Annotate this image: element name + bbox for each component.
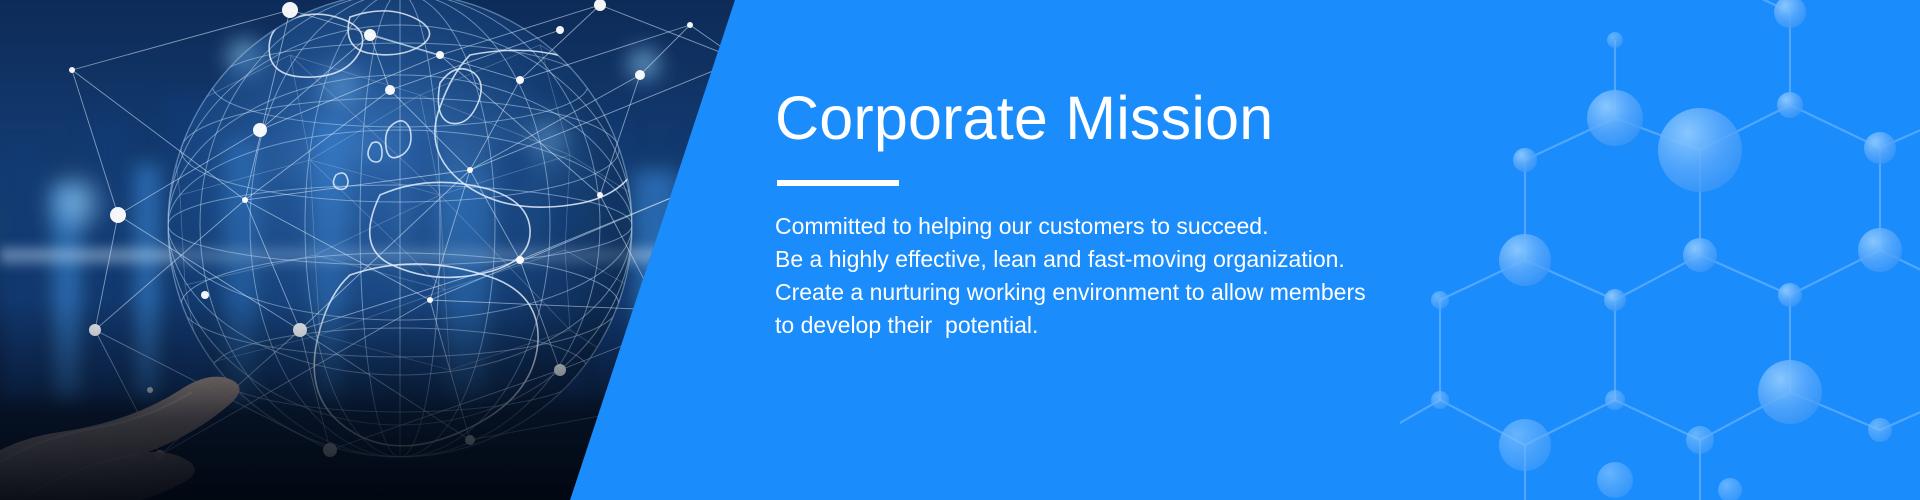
page-title: Corporate Mission <box>775 82 1475 154</box>
title-divider <box>777 180 899 186</box>
mission-line: Create a nurturing working environment t… <box>775 276 1475 309</box>
mission-text-block: Corporate Mission Committed to helping o… <box>775 82 1475 342</box>
mission-line: to develop their potential. <box>775 309 1475 342</box>
mission-line: Be a highly effective, lean and fast-mov… <box>775 243 1475 276</box>
mission-line: Committed to helping our customers to su… <box>775 210 1475 243</box>
corporate-mission-banner: Corporate Mission Committed to helping o… <box>0 0 1920 500</box>
mission-statement-list: Committed to helping our customers to su… <box>775 210 1475 342</box>
